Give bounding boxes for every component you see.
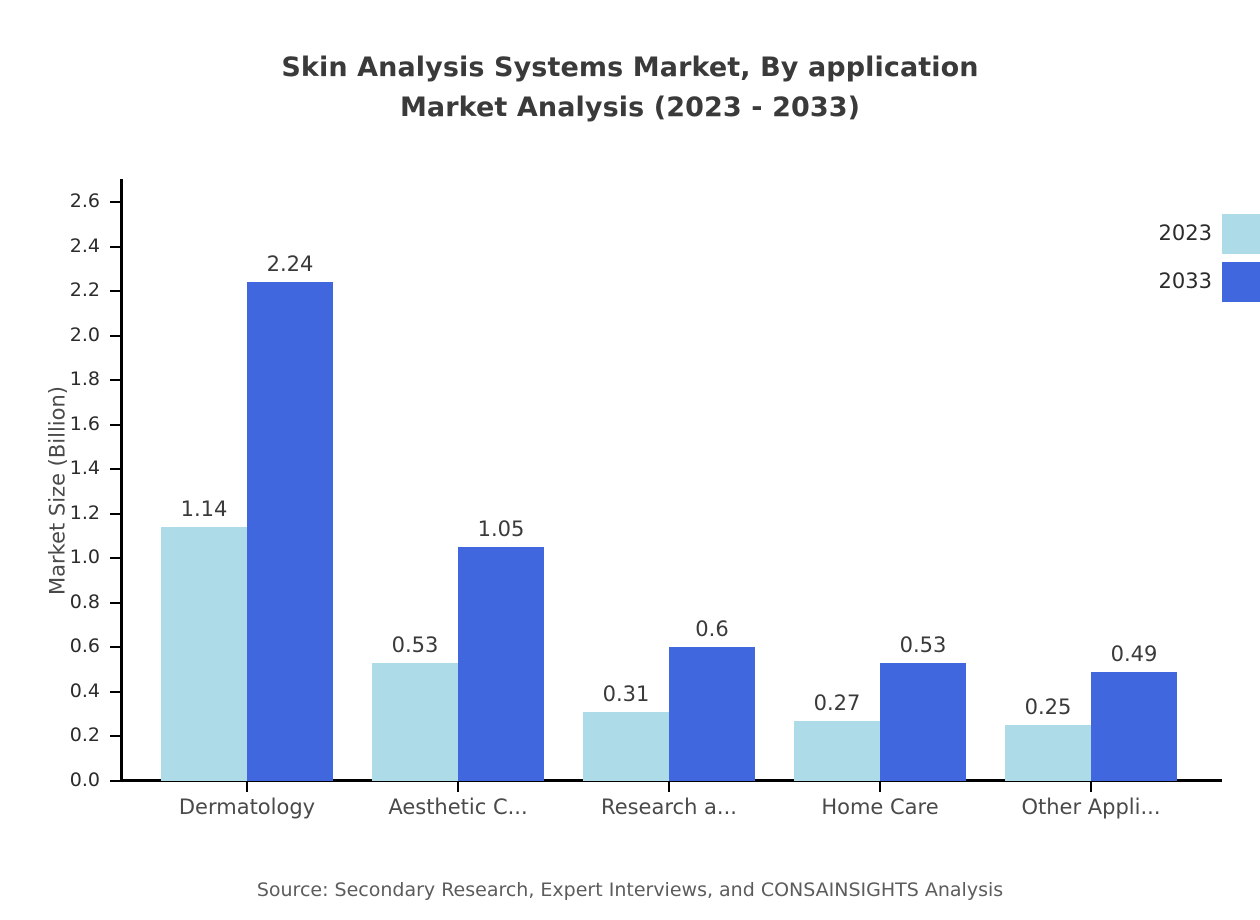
y-axis-tick: [110, 246, 120, 248]
y-axis-tick-label: 2.0: [40, 326, 100, 345]
y-axis-tick: [110, 602, 120, 604]
y-axis-tick-label: 0.2: [40, 726, 100, 745]
bar-chart-figure: Skin Analysis Systems Market, By applica…: [0, 0, 1260, 920]
bar-0[interactable]: [583, 712, 669, 781]
y-axis-tick: [110, 780, 120, 782]
bar-value-label: 2.24: [210, 254, 370, 275]
x-axis-tick-label: Research a...: [559, 795, 779, 819]
legend-swatch: [1222, 262, 1260, 302]
chart-legend: 20232033: [1130, 214, 1260, 302]
legend-item-2033[interactable]: 2033: [1130, 262, 1260, 302]
y-axis-tick-label: 1.2: [40, 504, 100, 523]
y-axis-tick: [110, 335, 120, 337]
y-axis-tick-label: 1.0: [40, 548, 100, 567]
x-axis-tick-label: Home Care: [770, 795, 990, 819]
bar-value-label: 0.6: [632, 619, 792, 640]
legend-label: 2033: [1130, 271, 1212, 292]
bar-value-label: 1.05: [421, 519, 581, 540]
y-axis-tick: [110, 691, 120, 693]
y-axis-tick: [110, 424, 120, 426]
x-axis-tick-label: Dermatology: [137, 795, 357, 819]
y-axis-tick: [110, 201, 120, 203]
bar-value-label: 0.53: [843, 635, 1003, 656]
legend-swatch: [1222, 214, 1260, 254]
y-axis-tick: [110, 513, 120, 515]
y-axis-tick-label: 0.4: [40, 682, 100, 701]
y-axis-tick-label: 0.8: [40, 593, 100, 612]
x-axis-tick: [668, 781, 670, 792]
y-axis-tick-label: 2.4: [40, 237, 100, 256]
y-axis-tick-label: 2.2: [40, 281, 100, 300]
bar-1[interactable]: [458, 547, 544, 781]
y-axis-tick-label: 2.6: [40, 192, 100, 211]
x-axis-tick: [1090, 781, 1092, 792]
y-axis-tick-label: 1.8: [40, 370, 100, 389]
y-axis-tick-label: 0.0: [40, 771, 100, 790]
bar-1[interactable]: [1091, 672, 1177, 781]
bar-0[interactable]: [372, 663, 458, 781]
y-axis-tick-label: 1.6: [40, 415, 100, 434]
bar-1[interactable]: [880, 663, 966, 781]
legend-item-2023[interactable]: 2023: [1130, 214, 1260, 254]
x-axis-tick: [457, 781, 459, 792]
y-axis-tick: [110, 379, 120, 381]
y-axis-tick: [110, 290, 120, 292]
plot-area: Market Size (Billion) 0.00.20.40.60.81.0…: [120, 180, 1222, 781]
x-axis-tick: [879, 781, 881, 792]
y-axis-tick: [110, 735, 120, 737]
y-axis-tick-label: 1.4: [40, 459, 100, 478]
bar-1[interactable]: [247, 282, 333, 781]
source-note: Source: Secondary Research, Expert Inter…: [0, 879, 1260, 901]
y-axis-tick: [110, 468, 120, 470]
y-axis-tick: [110, 557, 120, 559]
chart-title: Skin Analysis Systems Market, By applica…: [0, 48, 1260, 128]
x-axis-tick: [246, 781, 248, 792]
y-axis-tick: [110, 646, 120, 648]
chart-title-line-1: Skin Analysis Systems Market, By applica…: [0, 48, 1260, 88]
x-axis-tick-label: Aesthetic C...: [348, 795, 568, 819]
legend-label: 2023: [1130, 223, 1212, 244]
y-axis-tick-label: 0.6: [40, 637, 100, 656]
bar-value-label: 0.49: [1054, 644, 1214, 665]
bar-0[interactable]: [161, 527, 247, 781]
x-axis-tick-label: Other Appli...: [981, 795, 1201, 819]
chart-title-line-2: Market Analysis (2023 - 2033): [0, 88, 1260, 128]
bar-1[interactable]: [669, 647, 755, 781]
bar-0[interactable]: [794, 721, 880, 781]
bar-0[interactable]: [1005, 725, 1091, 781]
